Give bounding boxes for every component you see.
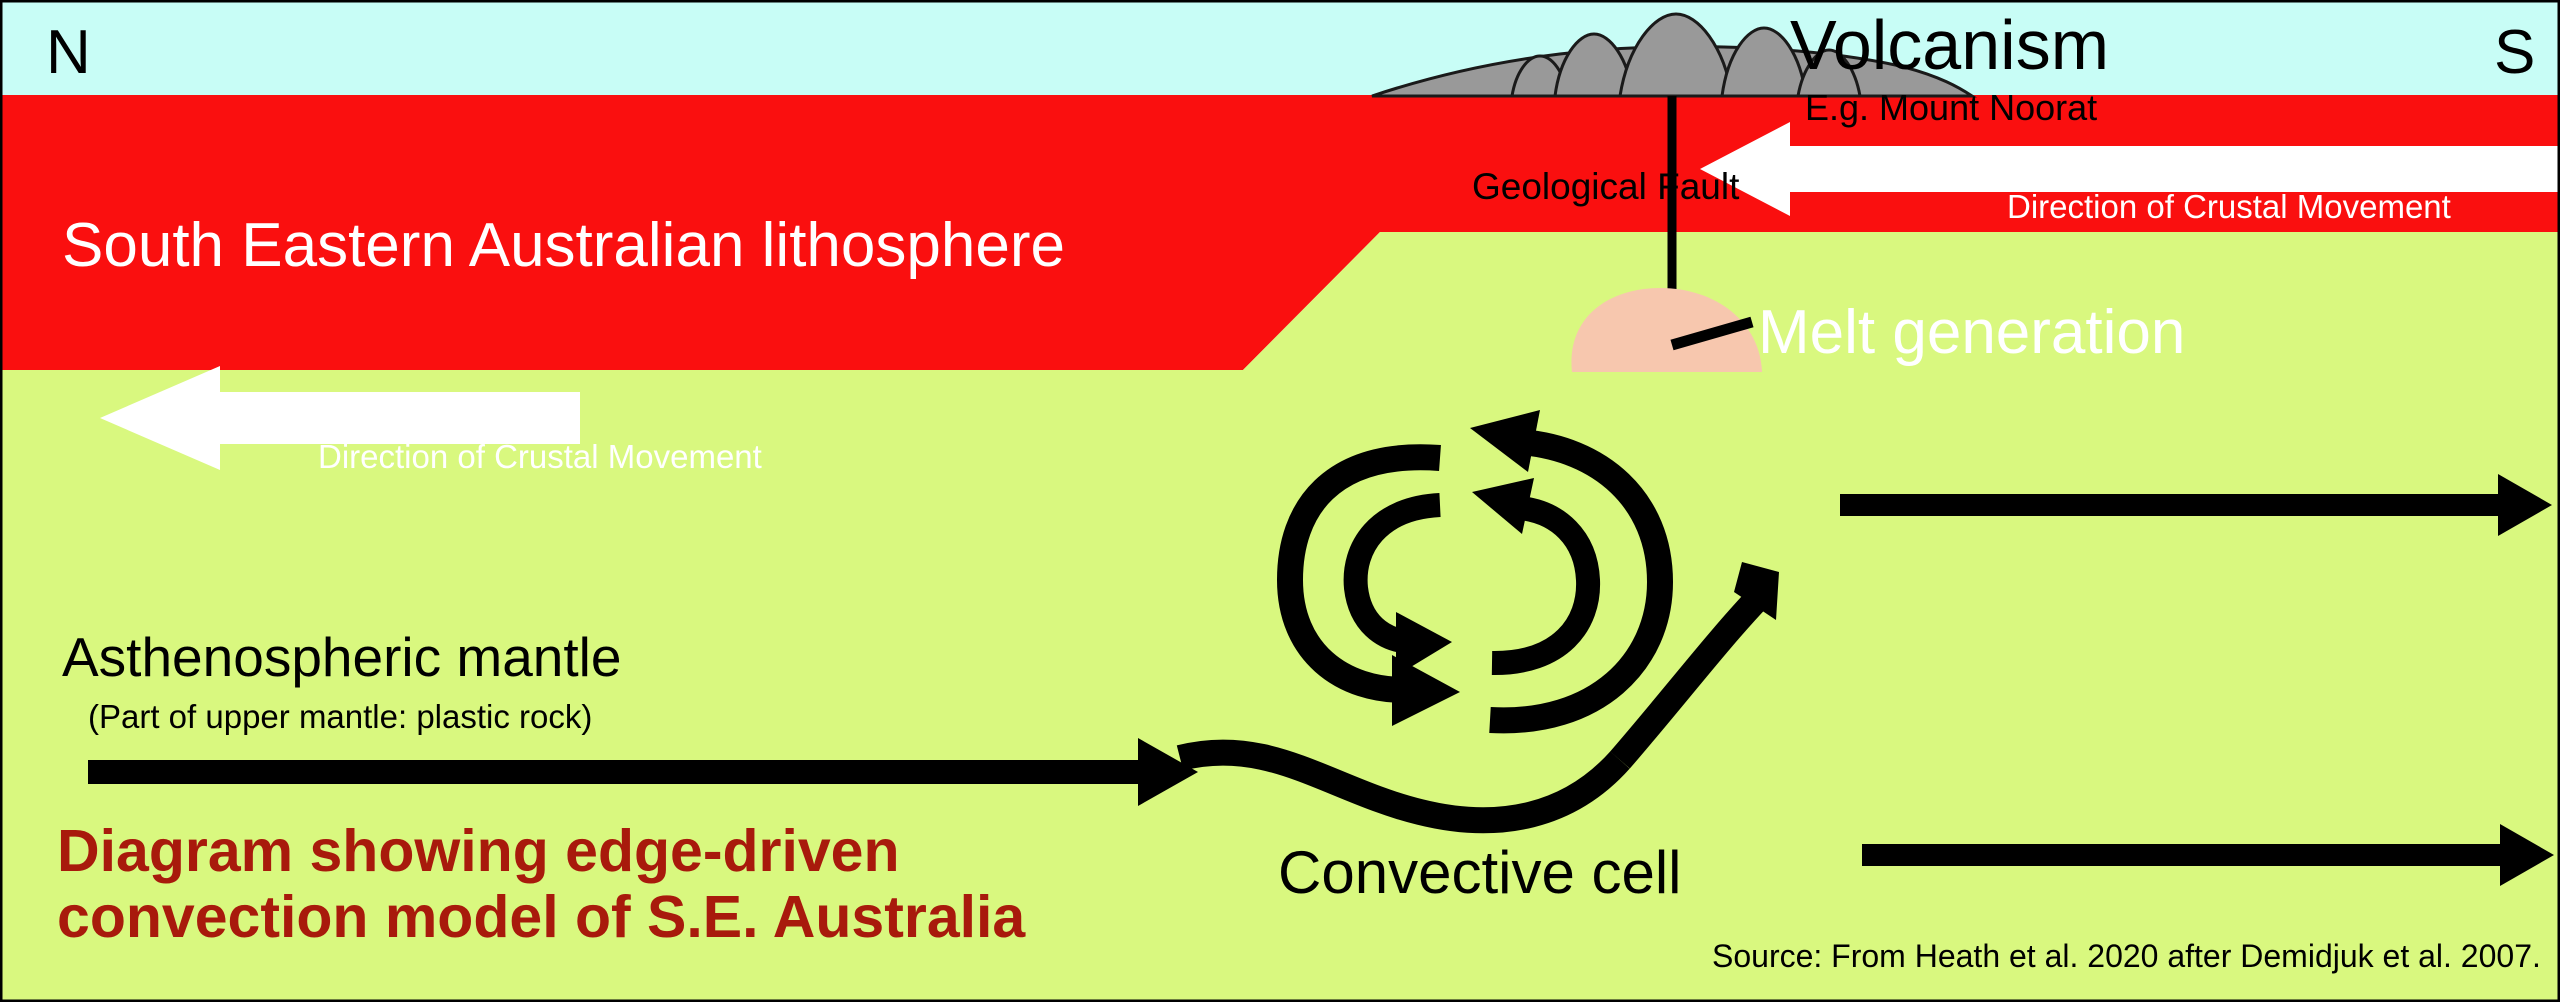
diagram-title-line-1: Diagram showing edge-driven xyxy=(57,818,1257,884)
crustal-movement-label-left: Direction of Crustal Movement xyxy=(318,440,762,473)
diagram-title: Diagram showing edge-driven convection m… xyxy=(57,818,1257,950)
volcanism-title: Volcanism xyxy=(1790,10,2109,80)
sky-layer xyxy=(0,0,2560,95)
source-citation: Source: From Heath et al. 2020 after Dem… xyxy=(1712,940,2541,972)
volcanism-subtitle: E.g. Mount Noorat xyxy=(1805,90,2097,126)
compass-label-north: N xyxy=(46,22,91,84)
geological-fault-label: Geological Fault xyxy=(1472,168,1739,205)
compass-label-south: S xyxy=(2494,22,2535,84)
lithosphere-layer-label: South Eastern Australian lithosphere xyxy=(62,215,1065,277)
melt-generation-label: Melt generation xyxy=(1758,302,2185,364)
crustal-movement-label-right: Direction of Crustal Movement xyxy=(2007,190,2451,223)
convective-cell-label: Convective cell xyxy=(1278,843,1682,903)
asthenosphere-layer-label: Asthenospheric mantle xyxy=(62,630,621,685)
asthenosphere-layer-sublabel: (Part of upper mantle: plastic rock) xyxy=(88,700,592,733)
diagram-title-line-2: convection model of S.E. Australia xyxy=(57,884,1257,950)
diagram-canvas: N S Volcanism E.g. Mount Noorat Geologic… xyxy=(0,0,2560,1002)
